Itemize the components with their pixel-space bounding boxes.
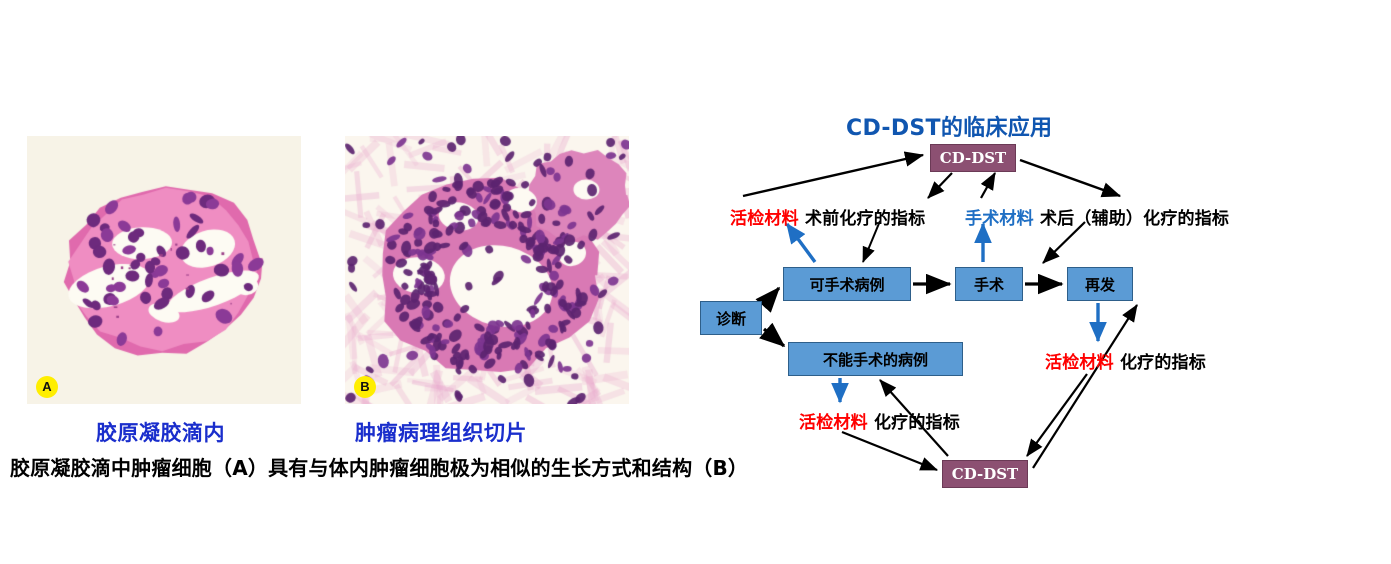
- node-cddst-top[interactable]: CD-DST: [930, 144, 1016, 172]
- arrow-cddst-bottom-to-recurrence: [1033, 305, 1137, 468]
- micrograph-canvas-a: [27, 136, 301, 404]
- arrow-cddst-to-preop-indication: [928, 173, 952, 198]
- arrow-preop-to-cddst: [743, 155, 923, 196]
- figure-caption-a: 胶原凝胶滴内: [96, 417, 225, 447]
- annotation-preop-chemotherapy: 活检材料 术前化疗的指标: [730, 204, 925, 229]
- node-inoperable-case[interactable]: 不能手术的病例: [788, 342, 963, 376]
- arrow-cddst-to-postop-label: [1020, 160, 1120, 196]
- indication-label-inoperable: 化疗的指标: [874, 413, 960, 433]
- node-diagnosis[interactable]: 诊断: [700, 301, 762, 335]
- flow-diagram-panel: CD-DST的临床应用 CD-DST CD-DST 诊断 可手术病例 手术 再发…: [700, 0, 1391, 564]
- diagram-title: CD-DST的临床应用: [846, 110, 1052, 142]
- annotation-inoperable-chemotherapy: 活检材料 化疗的指标: [799, 408, 960, 433]
- panel-tag-a: A: [36, 376, 58, 398]
- indication-label-postop: 术后（辅助）化疗的指标: [1040, 209, 1229, 229]
- node-operable-case[interactable]: 可手术病例: [783, 267, 911, 301]
- node-surgery[interactable]: 手术: [955, 267, 1023, 301]
- arrow-inop-material-to-cddst-bottom: [842, 432, 937, 470]
- arrow-surgery-material-to-cddst: [981, 173, 995, 198]
- annotation-postop-chemotherapy: 手术材料 术后（辅助）化疗的指标: [965, 204, 1229, 229]
- material-label-biopsy-recurrence: 活检材料: [1045, 353, 1114, 373]
- micrograph-image-a: A: [27, 136, 301, 404]
- annotation-recurrence-chemotherapy: 活检材料 化疗的指标: [1045, 348, 1206, 373]
- material-label-surgical: 手术材料: [965, 209, 1034, 229]
- node-recurrence[interactable]: 再发: [1067, 267, 1133, 301]
- arrow-operable-to-biopsy-material: [787, 224, 815, 262]
- figure-caption-b: 肿瘤病理组织切片: [355, 417, 527, 447]
- arrow-diagnosis-to-inoperable: [764, 329, 784, 346]
- indication-label-recurrence: 化疗的指标: [1120, 353, 1206, 373]
- panel-tag-b: B: [354, 376, 376, 398]
- material-label-biopsy: 活检材料: [730, 209, 799, 229]
- micrograph-image-b: B: [345, 136, 629, 404]
- arrow-diagnosis-to-operable: [764, 288, 779, 305]
- arrow-recur-material-to-cddst-bottom: [1027, 374, 1087, 456]
- figure-summary-text: 胶原凝胶滴中肿瘤细胞（A）具有与体内肿瘤细胞极为相似的生长方式和结构（B）: [10, 452, 748, 481]
- micrograph-canvas-b: [345, 136, 629, 404]
- indication-label-preop: 术前化疗的指标: [805, 209, 925, 229]
- material-label-biopsy-inoperable: 活检材料: [799, 413, 868, 433]
- node-cddst-bottom[interactable]: CD-DST: [942, 460, 1028, 488]
- figure-panel: A B 胶原凝胶滴内 肿瘤病理组织切片 胶原凝胶滴中肿瘤细胞（A）具有与体内肿瘤…: [0, 0, 700, 564]
